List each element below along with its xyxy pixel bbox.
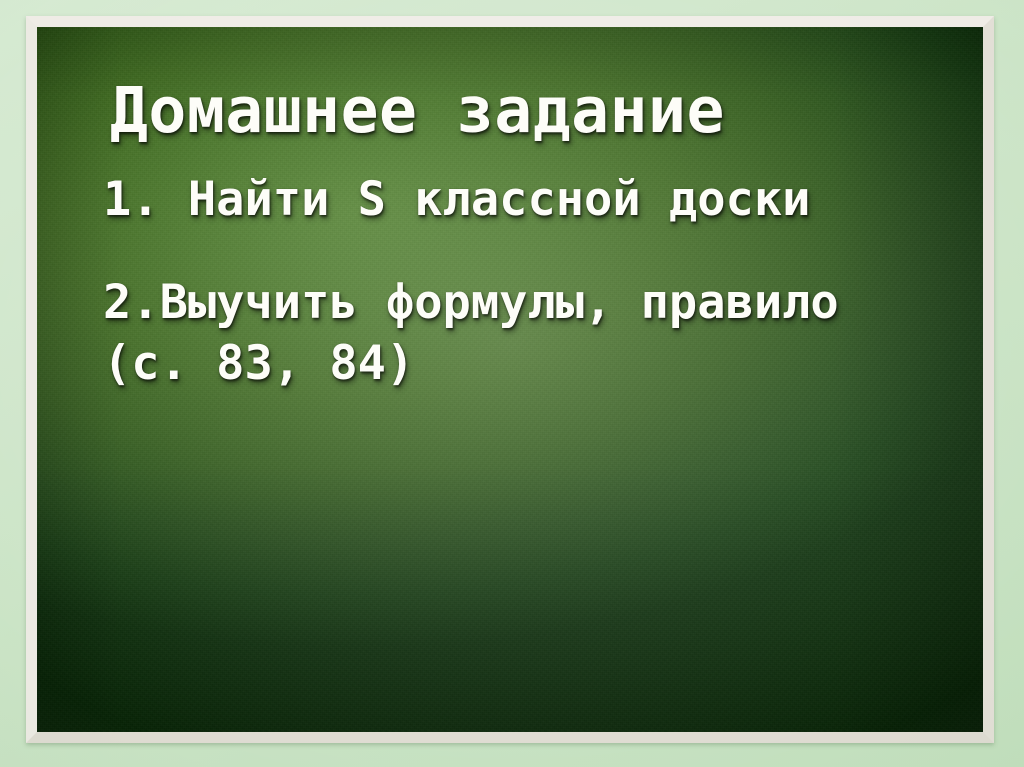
chalkboard-content: Домашнее задание 1. Найти S классной дос… xyxy=(37,27,983,732)
homework-task-2: 2.Выучить формулы, правило (с. 83, 84) xyxy=(103,272,913,394)
homework-task-1: 1. Найти S классной доски xyxy=(103,169,913,230)
slide-canvas: Домашнее задание 1. Найти S классной дос… xyxy=(0,0,1024,767)
chalkboard-frame: Домашнее задание 1. Найти S классной дос… xyxy=(26,16,994,743)
page-title: Домашнее задание xyxy=(110,79,939,143)
chalkboard-surface: Домашнее задание 1. Найти S классной дос… xyxy=(37,27,983,732)
homework-task-list: 1. Найти S классной доски 2.Выучить форм… xyxy=(103,169,939,394)
